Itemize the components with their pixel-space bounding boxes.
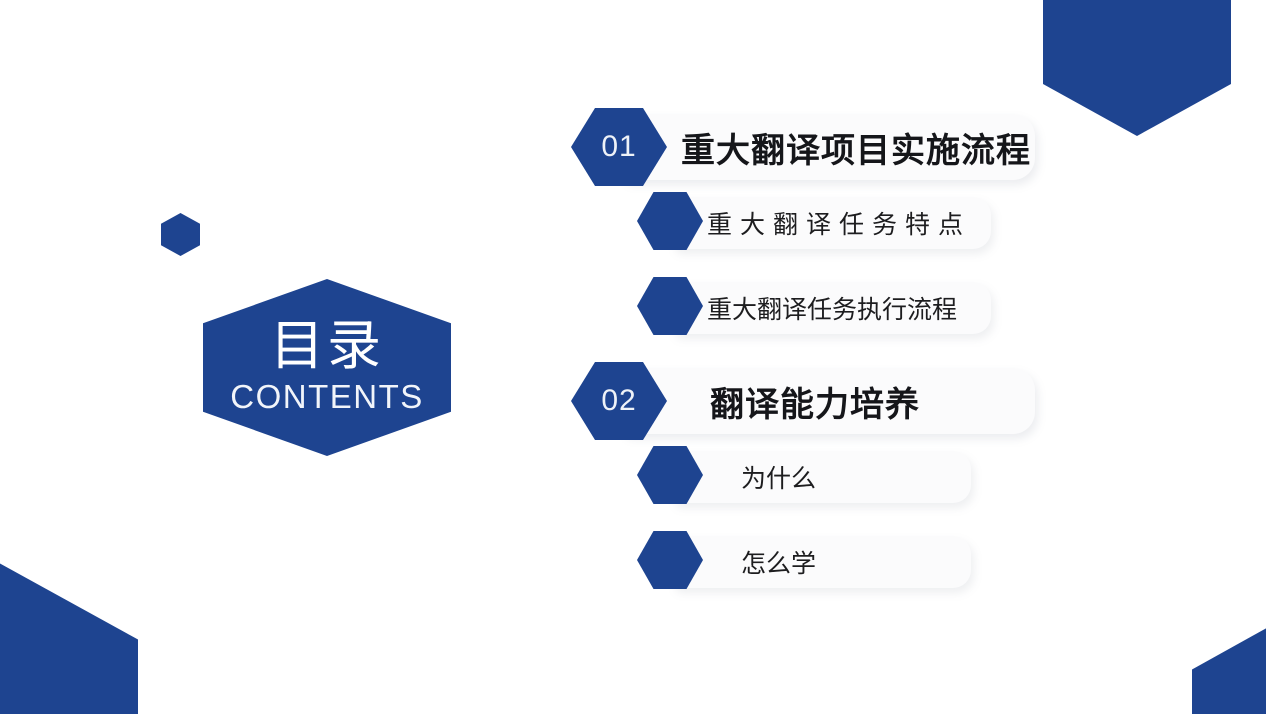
sub-item-label-02-1: 为什么 (741, 446, 816, 508)
hexagon-bottom-right-blue-icon (1192, 625, 1266, 714)
table-of-contents: 01 重大翻译项目实施流程 重大翻译任务特点 重大翻译任务执行流程 02 翻译能… (571, 108, 1091, 616)
hexagon-top-white-a-icon (905, 0, 1120, 88)
sub-item-row-02-1[interactable]: 为什么 (637, 446, 1091, 508)
hexagon-bottom-white-b-icon (0, 688, 130, 714)
section-row-01[interactable]: 01 重大翻译项目实施流程 (571, 108, 1091, 186)
section-row-02[interactable]: 02 翻译能力培养 (571, 362, 1091, 440)
sub-item-row-01-2[interactable]: 重大翻译任务执行流程 (637, 277, 1091, 339)
contents-title-cn: 目录 (270, 318, 384, 375)
sub-item-row-02-2[interactable]: 怎么学 (637, 531, 1091, 593)
contents-badge: 目录 CONTENTS (203, 279, 451, 456)
sub-item-label-01-1: 重大翻译任务特点 (707, 192, 971, 254)
contents-slide: 目录 CONTENTS 01 重大翻译项目实施流程 重大翻译任务特点 重大翻译任… (0, 0, 1266, 714)
hexagon-small-blue-icon (161, 213, 200, 256)
sub-pill-02-2 (673, 536, 971, 588)
sub-item-row-01-1[interactable]: 重大翻译任务特点 (637, 192, 1091, 254)
section-title-01: 重大翻译项目实施流程 (681, 108, 1031, 186)
section-number-01: 01 (601, 130, 636, 164)
section-title-02: 翻译能力培养 (710, 362, 920, 440)
hexagon-top-white-c-icon (1120, 140, 1266, 372)
contents-title-en: CONTENTS (230, 377, 424, 417)
hexagon-top-white-b-icon (1145, 0, 1266, 127)
sub-item-label-01-2: 重大翻译任务执行流程 (707, 277, 957, 339)
section-number-02: 02 (601, 384, 636, 418)
sub-item-label-02-2: 怎么学 (741, 531, 816, 593)
hexagon-top-white-d-icon (1230, 300, 1266, 500)
hexagon-bottom-left-blue-icon (0, 563, 138, 714)
sub-pill-02-1 (673, 451, 971, 503)
hexagon-top-left-white-icon (0, 0, 182, 202)
hexagon-bottom-white-a-icon (80, 640, 290, 714)
